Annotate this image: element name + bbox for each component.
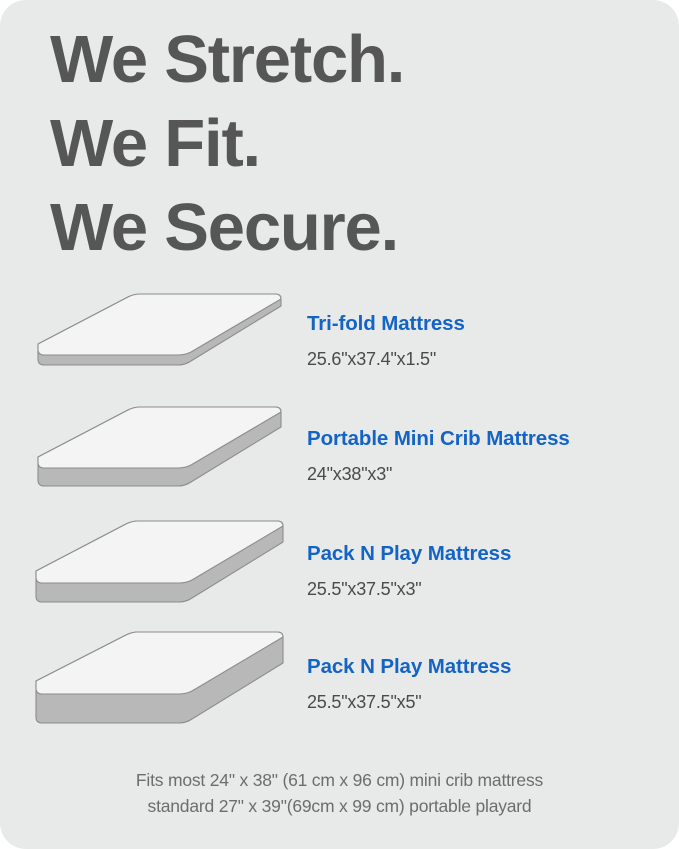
product-title: Portable Mini Crib Mattress — [307, 427, 667, 451]
mattress-slab-icon — [30, 631, 292, 746]
product-dimensions: 25.6"x37.4"x1.5" — [307, 349, 667, 370]
mattress-illustration-0 — [30, 286, 292, 401]
headline: We Stretch. We Fit. We Secure. — [50, 18, 650, 270]
product-title: Pack N Play Mattress — [307, 542, 667, 566]
product-info: Portable Mini Crib Mattress 24"x38"x3" — [307, 427, 667, 485]
product-dimensions: 25.5"x37.5"x5" — [307, 692, 667, 713]
headline-line-3: We Secure. — [50, 186, 650, 270]
mattress-slab-icon — [30, 516, 292, 631]
footer-note: Fits most 24" x 38" (61 cm x 96 cm) mini… — [0, 767, 679, 819]
product-list: Tri-fold Mattress 25.6"x37.4"x1.5" Porta… — [0, 286, 679, 746]
footer-line-1: Fits most 24" x 38" (61 cm x 96 cm) mini… — [0, 767, 679, 793]
product-row: Pack N Play Mattress 25.5"x37.5"x3" — [0, 516, 679, 631]
mattress-illustration-3 — [30, 631, 292, 746]
product-dimensions: 24"x38"x3" — [307, 464, 667, 485]
product-info: Pack N Play Mattress 25.5"x37.5"x3" — [307, 542, 667, 600]
mattress-illustration-2 — [30, 516, 292, 631]
mattress-slab-icon — [30, 286, 292, 401]
product-info: Pack N Play Mattress 25.5"x37.5"x5" — [307, 655, 667, 713]
product-row: Tri-fold Mattress 25.6"x37.4"x1.5" — [0, 286, 679, 401]
footer-line-2: standard 27" x 39"(69cm x 99 cm) portabl… — [0, 793, 679, 819]
infographic-card: We Stretch. We Fit. We Secure. Tri-fold … — [0, 0, 679, 849]
mattress-illustration-1 — [30, 401, 292, 516]
mattress-slab-icon — [30, 401, 292, 516]
headline-line-2: We Fit. — [50, 102, 650, 186]
product-info: Tri-fold Mattress 25.6"x37.4"x1.5" — [307, 312, 667, 370]
product-title: Pack N Play Mattress — [307, 655, 667, 679]
product-dimensions: 25.5"x37.5"x3" — [307, 579, 667, 600]
product-row: Portable Mini Crib Mattress 24"x38"x3" — [0, 401, 679, 516]
headline-line-1: We Stretch. — [50, 18, 650, 102]
product-row: Pack N Play Mattress 25.5"x37.5"x5" — [0, 631, 679, 746]
product-title: Tri-fold Mattress — [307, 312, 667, 336]
